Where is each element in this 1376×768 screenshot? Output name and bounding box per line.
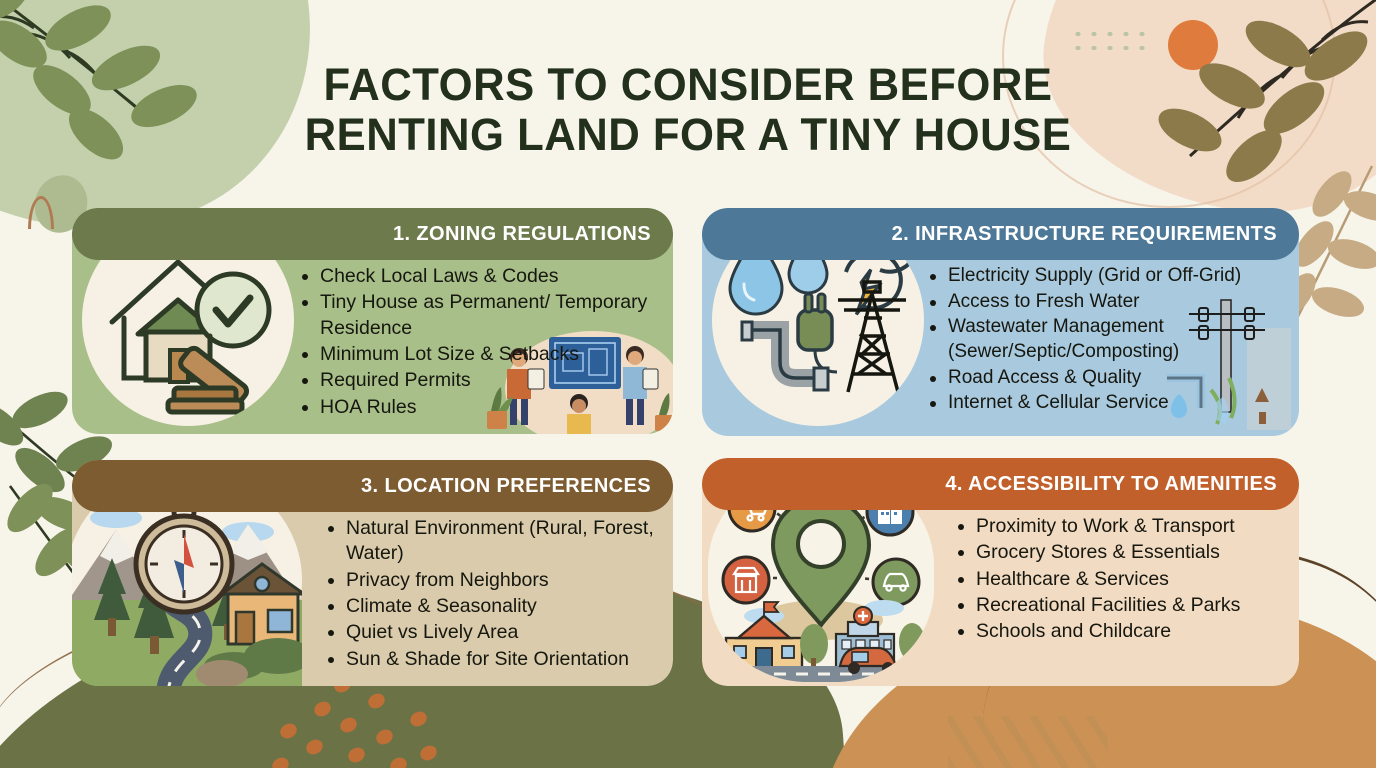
card-header: 1. ZONING REGULATIONS bbox=[72, 208, 673, 260]
cards-grid: 1. ZONING REGULATIONS Check Local Laws &… bbox=[72, 208, 1304, 686]
seed-scatter-icon bbox=[270, 672, 500, 768]
card-zoning-regulations[interactable]: 1. ZONING REGULATIONS Check Local Laws &… bbox=[72, 208, 673, 434]
list-item: Grocery Stores & Essentials bbox=[954, 540, 1291, 565]
list-item: Internet & Cellular Service bbox=[926, 391, 1291, 416]
page-title-line-2: RENTING LAND FOR A TINY HOUSE bbox=[21, 110, 1356, 160]
card-header: 2. INFRASTRUCTURE REQUIREMENTS bbox=[702, 208, 1299, 260]
list-item: Healthcare & Services bbox=[954, 567, 1291, 592]
list-item: Sun & Shade for Site Orientation bbox=[324, 647, 665, 672]
list-item: Privacy from Neighbors bbox=[324, 568, 665, 593]
list-item: Proximity to Work & Transport bbox=[954, 514, 1291, 539]
page-title: FACTORS TO CONSIDER BEFORE RENTING LAND … bbox=[0, 60, 1376, 161]
diagonal-stripes-icon bbox=[948, 716, 1108, 768]
list-item: Electricity Supply (Grid or Off-Grid) bbox=[926, 264, 1291, 289]
list-item: Tiny House as Permanent/ Temporary Resid… bbox=[298, 290, 665, 341]
list-item: Required Permits bbox=[298, 368, 665, 393]
dot-grid-icon bbox=[1070, 27, 1146, 51]
list-item: Natural Environment (Rural, Forest, Wate… bbox=[324, 516, 665, 567]
card-infrastructure-requirements[interactable]: 2. INFRASTRUCTURE REQUIREMENTS Electrici… bbox=[702, 208, 1299, 436]
card-title: 2. INFRASTRUCTURE REQUIREMENTS bbox=[892, 223, 1277, 246]
card-title: 3. LOCATION PREFERENCES bbox=[361, 475, 651, 498]
list-item: Recreational Facilities & Parks bbox=[954, 593, 1291, 618]
card-location-preferences[interactable]: 3. LOCATION PREFERENCES Natural Environm… bbox=[72, 460, 673, 686]
list-item: Access to Fresh Water bbox=[926, 290, 1291, 315]
list-item: Road Access & Quality bbox=[926, 366, 1291, 391]
page-title-line-1: FACTORS TO CONSIDER BEFORE bbox=[21, 60, 1356, 110]
list-item: Quiet vs Lively Area bbox=[324, 620, 665, 645]
list-item: Check Local Laws & Codes bbox=[298, 264, 665, 289]
card-header: 4. ACCESSIBILITY TO AMENITIES bbox=[702, 458, 1299, 510]
infographic-canvas: FACTORS TO CONSIDER BEFORE RENTING LAND … bbox=[0, 0, 1376, 768]
card-header: 3. LOCATION PREFERENCES bbox=[72, 460, 673, 512]
list-item: HOA Rules bbox=[298, 395, 665, 420]
card-title: 1. ZONING REGULATIONS bbox=[393, 223, 651, 246]
card-bullet-list: Check Local Laws & Codes Tiny House as P… bbox=[298, 264, 665, 421]
card-title: 4. ACCESSIBILITY TO AMENITIES bbox=[945, 473, 1277, 496]
brown-curl-icon bbox=[28, 196, 54, 229]
list-item: Climate & Seasonality bbox=[324, 594, 665, 619]
list-item: Minimum Lot Size & Setbacks bbox=[298, 342, 665, 367]
list-item: Wastewater Management (Sewer/Septic/Comp… bbox=[926, 315, 1291, 364]
list-item: Schools and Childcare bbox=[954, 619, 1291, 644]
card-accessibility-to-amenities[interactable]: 4. ACCESSIBILITY TO AMENITIES Proximity … bbox=[702, 458, 1299, 686]
card-bullet-list: Electricity Supply (Grid or Off-Grid) Ac… bbox=[926, 264, 1291, 417]
card-bullet-list: Natural Environment (Rural, Forest, Wate… bbox=[324, 516, 665, 673]
card-bullet-list: Proximity to Work & Transport Grocery St… bbox=[954, 514, 1291, 646]
